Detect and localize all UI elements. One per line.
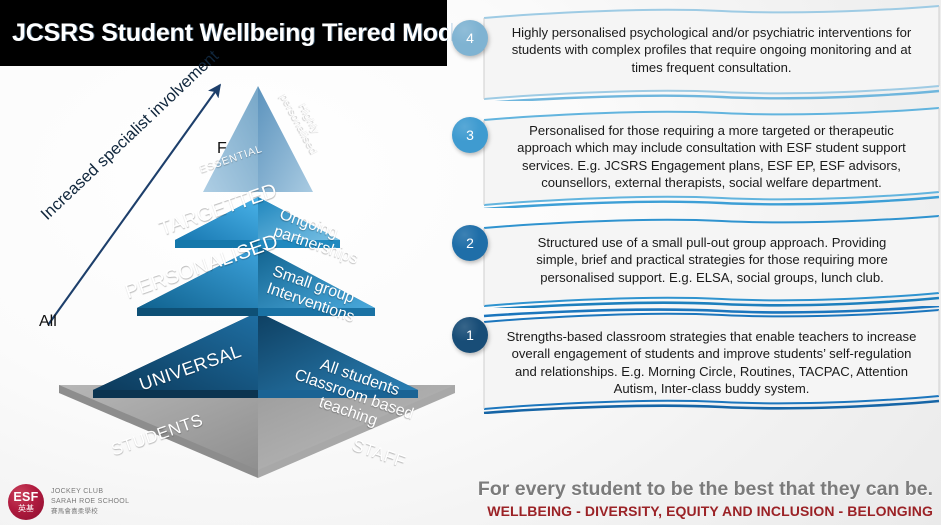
- tagline: For every student to be the best that th…: [413, 478, 933, 501]
- footer-tagline-group: For every student to be the best that th…: [413, 478, 933, 519]
- esf-logo-mark: ESF 英基: [8, 484, 44, 520]
- esf-logo-cjk: 英基: [18, 505, 34, 513]
- tier-panel-text-3: Personalised for those requiring a more …: [504, 122, 919, 191]
- pyramid-base-slab: [59, 385, 455, 478]
- tier-number-badge-3[interactable]: 3: [452, 117, 488, 153]
- tier-panel-text-1: Strengths-based classroom strategies tha…: [504, 328, 919, 397]
- pyramid-tier-2: [137, 246, 375, 316]
- tier-number-badge-2[interactable]: 2: [452, 225, 488, 261]
- logo-line-2: SARAH ROE SCHOOL: [51, 497, 129, 507]
- esf-logo-initials: ESF: [13, 491, 38, 504]
- esf-logo-wordmark: JOCKEY CLUB SARAH ROE SCHOOL 賽馬會喜柔學校: [51, 487, 129, 517]
- tier-panel-text-2: Structured use of a small pull-out group…: [516, 234, 908, 286]
- logo-line-1: JOCKEY CLUB: [51, 487, 129, 497]
- sub-tagline: WELLBEING - DIVERSITY, EQUITY AND INCLUS…: [413, 503, 933, 519]
- page-title: JCSRS Student Wellbeing Tiered Model: [0, 19, 473, 48]
- pyramid-tier-1: [93, 312, 418, 398]
- tier-panel-text-4: Highly personalised psychological and/or…: [502, 24, 921, 76]
- pyramid-tier-4-apex: [203, 86, 313, 192]
- tier-number-badge-1[interactable]: 1: [452, 317, 488, 353]
- tier-number-badge-4[interactable]: 4: [452, 20, 488, 56]
- logo-line-3: 賽馬會喜柔學校: [51, 507, 129, 516]
- pyramid-tier-3: [175, 197, 340, 248]
- esf-logo: ESF 英基 JOCKEY CLUB SARAH ROE SCHOOL 賽馬會喜…: [8, 484, 129, 520]
- slide-canvas: JCSRS Student Wellbeing Tiered Model Few…: [0, 0, 941, 525]
- slide-title-bar: JCSRS Student Wellbeing Tiered Model: [0, 0, 447, 66]
- tier-description-panels: 4 Highly personalised psychological and/…: [452, 0, 941, 470]
